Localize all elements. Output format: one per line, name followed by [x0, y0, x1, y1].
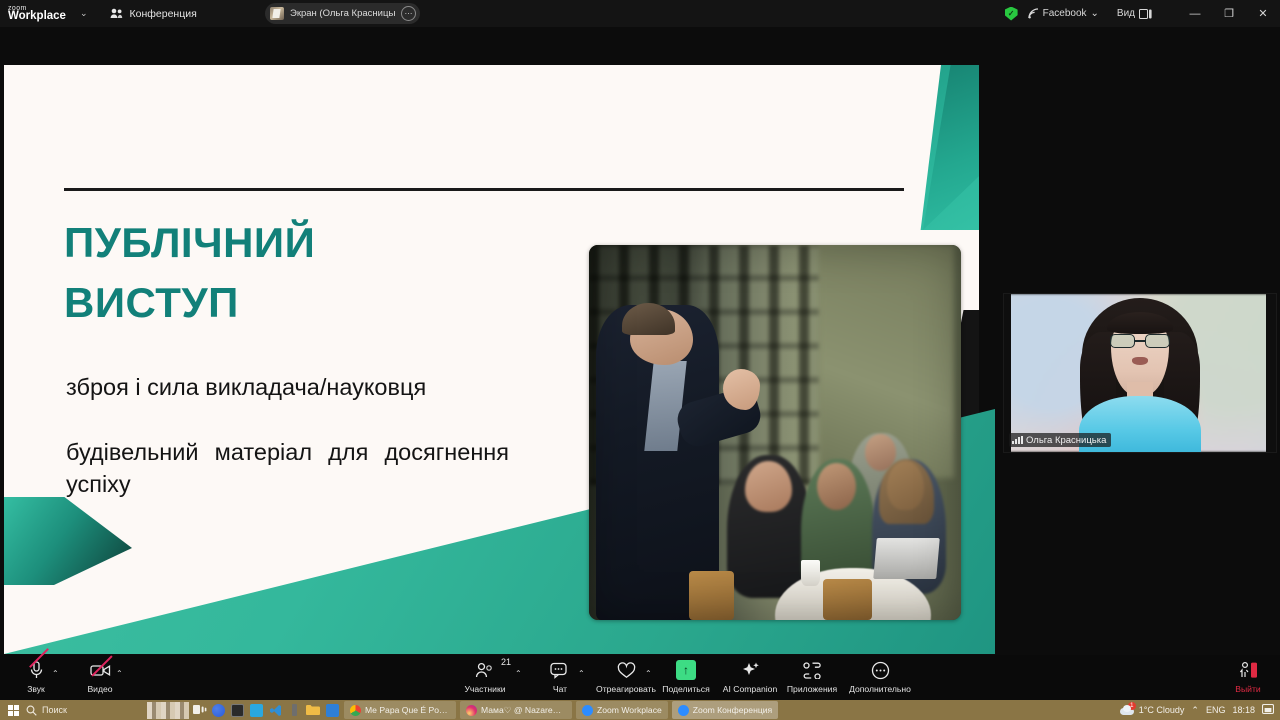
- pinned-app-edge-icon[interactable]: [209, 701, 228, 719]
- notification-icon[interactable]: [1262, 704, 1274, 717]
- zoom-icon: [582, 705, 593, 716]
- toolbar-share-label: Поделиться: [662, 684, 709, 694]
- taskbar-window-chrome[interactable]: Me Papa Que É Pop …: [344, 701, 456, 719]
- toolbar-leave-button[interactable]: Выйти: [1218, 659, 1278, 694]
- slide-top-rule: [64, 188, 904, 191]
- presentation-slide: ПУБЛІЧНИЙ ВИСТУП зброя і сила викладача/…: [4, 65, 995, 654]
- language-indicator[interactable]: ENG: [1206, 705, 1226, 715]
- tab-meeting[interactable]: Конференция: [110, 7, 197, 21]
- zoom-meeting-window: zoom Workplace ⌄ Конференция Экран (Ольг…: [0, 0, 1280, 720]
- toolbar-more-button[interactable]: Дополнительно: [842, 659, 918, 694]
- microphone-muted-icon: [29, 659, 44, 681]
- cloud-weather-icon: 1: [1120, 704, 1135, 716]
- weather-label: 1°C Cloudy: [1139, 705, 1185, 715]
- system-tray: 1 1°C Cloudy ⌃ ENG 18:18: [1120, 704, 1280, 717]
- facebook-stream-status[interactable]: Facebook ⌄: [1028, 8, 1099, 19]
- close-button[interactable]: ✕: [1246, 0, 1280, 27]
- taskbar-window-zoom-workplace[interactable]: Zoom Workplace: [576, 701, 668, 719]
- toolbar-share-button[interactable]: ↑ Поделиться: [656, 659, 716, 694]
- slide-paragraph-2: будівельний матеріал для досягнення успі…: [66, 437, 509, 500]
- windows-taskbar: Поиск Me Papa Que É Pop … Мама♡ @ Nazare…: [0, 700, 1280, 720]
- layout-view-icon: [1139, 9, 1152, 19]
- toolbar-ai-companion-label: AI Companion: [723, 684, 777, 694]
- participants-count: 21: [501, 657, 511, 667]
- weather-widget[interactable]: 1 1°C Cloudy: [1120, 704, 1185, 716]
- weather-badge: 1: [1128, 702, 1136, 710]
- taskbar-search[interactable]: Поиск: [26, 705, 146, 716]
- tray-overflow-chevron-up-icon[interactable]: ⌃: [1191, 705, 1199, 716]
- video-right-letterbox: [1266, 294, 1276, 452]
- taskbar-window-zoom-meeting[interactable]: Zoom Конференция: [672, 701, 778, 719]
- slide-photo-public-speaking: [589, 245, 961, 620]
- start-button[interactable]: [0, 705, 26, 716]
- toolbar-apps-label: Приложения: [787, 684, 837, 694]
- participant-name-badge: Ольга Красницька: [1009, 433, 1111, 447]
- toolbar-more-label: Дополнительно: [849, 684, 911, 694]
- taskbar-window-label: Zoom Конференция: [693, 705, 772, 715]
- taskbar-window-label: Zoom Workplace: [597, 705, 662, 715]
- task-view-icon[interactable]: [190, 701, 209, 719]
- clock[interactable]: 18:18: [1232, 705, 1255, 715]
- view-menu-label: Вид: [1117, 8, 1135, 19]
- participants-chevron-up-icon[interactable]: ⌃: [515, 669, 522, 678]
- toolbar-leave-label: Выйти: [1235, 684, 1260, 694]
- slide-decoration-chevron: [4, 497, 132, 585]
- pinned-app-calculator-icon[interactable]: [228, 701, 247, 719]
- participants-icon: 21: [475, 659, 495, 681]
- maximize-button[interactable]: ❐: [1212, 0, 1246, 27]
- toolbar-ai-companion-button[interactable]: AI Companion: [716, 659, 784, 694]
- taskbar-window-instagram[interactable]: Мама♡ @ Nazareo (…: [460, 701, 572, 719]
- brand-chevron-down-icon[interactable]: ⌄: [80, 8, 88, 19]
- more-ellipsis-icon: [871, 659, 890, 681]
- toolbar-reactions-label: Отреагировать: [596, 684, 656, 694]
- zoom-workplace-logo: zoom Workplace: [8, 5, 66, 23]
- video-left-letterbox: [1004, 294, 1011, 452]
- participant-name-label: Ольга Красницька: [1026, 435, 1106, 446]
- shared-screen-stage: ПУБЛІЧНИЙ ВИСТУП зброя і сила викладача/…: [0, 27, 1280, 655]
- audio-options-chevron-up-icon[interactable]: ⌃: [52, 669, 59, 678]
- toolbar-video-label: Видео: [87, 684, 112, 694]
- facebook-label: Facebook: [1043, 8, 1087, 19]
- video-options-chevron-up-icon[interactable]: ⌃: [116, 669, 123, 678]
- apps-icon: [802, 659, 822, 681]
- share-more-icon[interactable]: ⋯: [401, 6, 416, 21]
- windows-logo-icon: [8, 705, 19, 716]
- taskbar-search-label: Поиск: [42, 705, 67, 715]
- toolbar-participants-button[interactable]: 21 Участники: [455, 659, 515, 694]
- chrome-icon: [350, 705, 361, 716]
- broadcast-icon: [1028, 8, 1039, 19]
- minimize-button[interactable]: —: [1178, 0, 1212, 27]
- slide-paragraph-1: зброя і сила викладача/науковця: [66, 373, 566, 402]
- toolbar-audio-label: Звук: [27, 684, 45, 694]
- signal-strength-icon: [1012, 436, 1023, 444]
- search-icon: [26, 705, 37, 716]
- titlebar: zoom Workplace ⌄ Конференция Экран (Ольг…: [0, 0, 1280, 27]
- titlebar-right-cluster: Facebook ⌄ Вид — ❐ ✕: [1005, 0, 1280, 27]
- leave-meeting-icon: [1238, 659, 1258, 681]
- toolbar-apps-button[interactable]: Приложения: [780, 659, 844, 694]
- participant-mouth: [1132, 357, 1148, 365]
- participant-glasses: [1110, 334, 1170, 348]
- pinned-app-photo-icon[interactable]: [146, 701, 190, 719]
- chat-chevron-up-icon[interactable]: ⌃: [578, 669, 585, 678]
- pinned-app-battery-icon[interactable]: [285, 701, 304, 719]
- slide-title: ПУБЛІЧНИЙ ВИСТУП: [64, 213, 584, 332]
- reactions-chevron-up-icon[interactable]: ⌃: [645, 669, 652, 678]
- brand-workplace-text: Workplace: [8, 11, 66, 23]
- screen-share-tab[interactable]: Экран (Ольга Красницька) ⋯: [265, 3, 420, 24]
- meeting-toolbar: Звук ⌃ Видео ⌃ 21 Участники ⌃ Чат ⌃: [0, 655, 1280, 700]
- participants-group-icon: [110, 7, 124, 21]
- screen-share-tab-label: Экран (Ольга Красницька): [290, 8, 395, 19]
- tab-meeting-label: Конференция: [130, 8, 197, 20]
- slide-title-line2: ВИСТУП: [64, 273, 584, 333]
- view-menu[interactable]: Вид: [1117, 8, 1152, 19]
- toolbar-chat-label: Чат: [553, 684, 567, 694]
- instagram-icon: [466, 705, 477, 716]
- facebook-chevron-down-icon[interactable]: ⌄: [1091, 8, 1099, 19]
- zoom-icon: [678, 705, 689, 716]
- pinned-app-store-icon[interactable]: [323, 701, 342, 719]
- pinned-app-vscode-icon[interactable]: [266, 701, 285, 719]
- toolbar-participants-label: Участники: [464, 684, 505, 694]
- taskbar-window-label: Мама♡ @ Nazareo (…: [481, 705, 566, 716]
- reactions-heart-icon: [617, 659, 636, 681]
- taskbar-window-label: Me Papa Que É Pop …: [365, 705, 450, 715]
- pinned-app-explorer-icon[interactable]: [304, 701, 323, 719]
- camera-muted-icon: [90, 659, 111, 681]
- participant-video-tile[interactable]: Ольга Красницька: [1003, 293, 1277, 453]
- chat-icon: [550, 659, 570, 681]
- pinned-app-mail-icon[interactable]: [247, 701, 266, 719]
- slide-title-line1: ПУБЛІЧНИЙ: [64, 213, 584, 273]
- shield-secure-icon: [1005, 7, 1018, 21]
- share-screen-icon: ↑: [676, 659, 696, 681]
- share-thumbnail-icon: [270, 7, 284, 20]
- ai-sparkle-icon: [741, 659, 760, 681]
